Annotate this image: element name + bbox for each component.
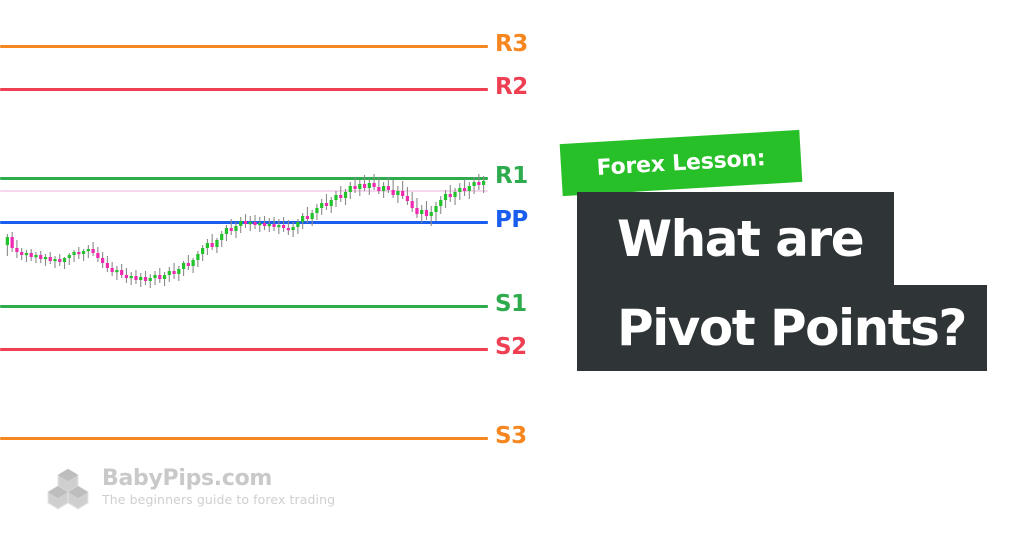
candle-body bbox=[268, 224, 271, 226]
title-block-primary: What are bbox=[577, 192, 894, 286]
candle-body bbox=[158, 275, 161, 279]
candle-body bbox=[220, 234, 223, 240]
candle-body bbox=[111, 268, 114, 272]
candle-body bbox=[387, 186, 390, 190]
pivot-label-s1: S1 bbox=[495, 293, 527, 316]
candle-body bbox=[139, 277, 142, 280]
candle-body bbox=[439, 200, 442, 206]
eyebrow-banner: Forex Lesson: bbox=[560, 130, 803, 196]
candle-body bbox=[239, 221, 242, 226]
logo-title: BabyPips.com bbox=[102, 467, 335, 490]
candle-body bbox=[120, 270, 123, 275]
pivot-label-r3: R3 bbox=[495, 33, 528, 56]
candle-body bbox=[58, 259, 61, 262]
candlestick-series bbox=[0, 0, 540, 535]
candle-body bbox=[39, 255, 42, 259]
candle-body bbox=[292, 227, 295, 230]
candle-body bbox=[253, 222, 256, 225]
candle-body bbox=[149, 278, 152, 281]
candle-body bbox=[182, 263, 185, 269]
candle-body bbox=[420, 210, 423, 214]
candle-body bbox=[172, 271, 175, 274]
hero-panel: Forex Lesson: What are Pivot Points? bbox=[540, 0, 1024, 535]
candle-body bbox=[249, 222, 252, 224]
candle-body bbox=[30, 253, 33, 257]
candle-body bbox=[53, 259, 56, 261]
candle-body bbox=[330, 200, 333, 206]
candle-body bbox=[115, 270, 118, 272]
candle-body bbox=[82, 251, 85, 254]
candle-body bbox=[449, 194, 452, 197]
candle-body bbox=[68, 255, 71, 258]
candle-body bbox=[87, 249, 90, 251]
pivot-label-s2: S2 bbox=[495, 336, 527, 359]
pivot-label-pp: PP bbox=[495, 209, 528, 232]
candle-body bbox=[282, 225, 285, 228]
candle-body bbox=[368, 183, 371, 188]
candle-body bbox=[44, 257, 47, 259]
candle-body bbox=[72, 252, 75, 255]
candle-body bbox=[230, 228, 233, 231]
candle-body bbox=[311, 213, 314, 219]
candle-body bbox=[187, 263, 190, 266]
candle-body bbox=[401, 191, 404, 196]
candle-body bbox=[472, 182, 475, 186]
candle-body bbox=[215, 240, 218, 247]
pivot-label-r2: R2 bbox=[495, 76, 528, 99]
candle-body bbox=[163, 275, 166, 279]
babypips-logo: BabyPips.com The beginners guide to fore… bbox=[46, 466, 335, 510]
candle-body bbox=[344, 192, 347, 198]
candle-body bbox=[130, 276, 133, 278]
pivot-point-chart: R3R2R1PPS1S2S3 BabyPips.com The beginner… bbox=[0, 0, 540, 535]
candle-body bbox=[325, 203, 328, 206]
candle-body bbox=[263, 223, 266, 226]
candle-body bbox=[272, 224, 275, 227]
candle-body bbox=[258, 223, 261, 225]
candle-body bbox=[153, 275, 156, 278]
candle-body bbox=[453, 192, 456, 197]
candle-body bbox=[77, 252, 80, 254]
candle-body bbox=[6, 237, 9, 245]
candle-body bbox=[20, 252, 23, 255]
candle-body bbox=[277, 225, 280, 227]
candle-body bbox=[287, 228, 290, 230]
candle-body bbox=[201, 248, 204, 254]
candle-body bbox=[306, 216, 309, 219]
candle-body bbox=[101, 258, 104, 263]
candle-body bbox=[468, 186, 471, 191]
candle-body bbox=[434, 206, 437, 212]
candle-body bbox=[396, 191, 399, 195]
candle-body bbox=[301, 216, 304, 222]
candle-body bbox=[96, 253, 99, 258]
candle-body bbox=[334, 195, 337, 200]
eyebrow-label: Forex Lesson: bbox=[596, 146, 766, 181]
pivot-label-s3: S3 bbox=[495, 425, 527, 448]
candle-body bbox=[125, 275, 128, 278]
candle-body bbox=[177, 269, 180, 274]
candle-body bbox=[315, 208, 318, 213]
candle-body bbox=[411, 201, 414, 208]
candle-body bbox=[444, 194, 447, 200]
title-line-1: What are bbox=[617, 210, 863, 268]
candle-body bbox=[206, 243, 209, 248]
candle-body bbox=[415, 208, 418, 214]
candle-body bbox=[63, 258, 66, 262]
candle-body bbox=[25, 253, 28, 255]
candle-body bbox=[406, 196, 409, 201]
candle-body bbox=[49, 257, 52, 261]
candle-body bbox=[458, 188, 461, 192]
candle-body bbox=[11, 237, 14, 248]
candle-body bbox=[91, 249, 94, 253]
candle-body bbox=[425, 210, 428, 216]
candle-body bbox=[339, 195, 342, 198]
logo-text-group: BabyPips.com The beginners guide to fore… bbox=[102, 467, 335, 508]
candle-body bbox=[477, 182, 480, 185]
candle-body bbox=[106, 263, 109, 268]
candle-body bbox=[392, 190, 395, 195]
candle-body bbox=[234, 226, 237, 231]
candle-body bbox=[349, 186, 352, 192]
candle-body bbox=[296, 222, 299, 227]
candle-body bbox=[430, 212, 433, 216]
candle-body bbox=[196, 254, 199, 260]
candle-body bbox=[144, 277, 147, 281]
title-line-2: Pivot Points? bbox=[617, 299, 966, 357]
candle-body bbox=[382, 186, 385, 191]
candle-body bbox=[168, 271, 171, 275]
candle-body bbox=[363, 184, 366, 188]
candle-body bbox=[358, 184, 361, 189]
candle-body bbox=[482, 181, 485, 185]
cubes-icon bbox=[46, 466, 90, 510]
title-block-secondary: Pivot Points? bbox=[577, 285, 987, 371]
pivot-label-r1: R1 bbox=[495, 165, 528, 188]
candle-body bbox=[463, 188, 466, 191]
candle-body bbox=[191, 260, 194, 266]
candle-body bbox=[15, 248, 18, 252]
candle-body bbox=[353, 186, 356, 189]
candle-body bbox=[320, 203, 323, 208]
candle-body bbox=[211, 243, 214, 247]
candle-body bbox=[377, 187, 380, 191]
candle-body bbox=[372, 183, 375, 187]
candle-body bbox=[134, 276, 137, 280]
logo-tagline: The beginners guide to forex trading bbox=[102, 492, 335, 508]
candle-body bbox=[244, 221, 247, 224]
candle-body bbox=[225, 228, 228, 234]
candle-body bbox=[34, 255, 37, 257]
